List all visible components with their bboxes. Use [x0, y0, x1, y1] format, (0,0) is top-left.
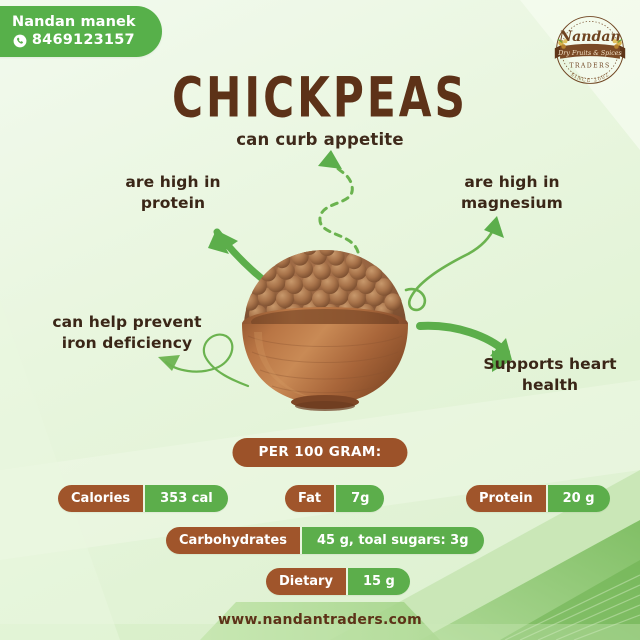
nutrition-key-calories: Calories — [58, 485, 145, 512]
callout-protein-line2: protein — [141, 194, 205, 212]
nutrition-key-protein: Protein — [466, 485, 548, 512]
logo-tagline-text: Dry Fruits & Spices — [557, 49, 622, 57]
nutrition-header-badge: PER 100 GRAM: — [232, 438, 407, 467]
callout-heart: Supports heart health — [474, 354, 626, 396]
callout-magnesium-line1: are high in — [464, 173, 559, 191]
callout-iron-line1: can help prevent — [52, 313, 201, 331]
nutrition-row-carbohydrates: Carbohydrates 45 g, toal sugars: 3g — [166, 527, 484, 554]
contact-badge[interactable]: Nandan manek 8469123157 — [0, 6, 162, 57]
page-title: CHICKPEAS — [0, 66, 640, 131]
contact-phone-number: 8469123157 — [32, 32, 135, 48]
callout-iron-line2: iron deficiency — [62, 334, 193, 352]
chickpeas-bowl-image — [218, 228, 432, 414]
nutrition-row-fat: Fat 7g — [285, 485, 384, 512]
poster-canvas: Nandan manek 8469123157 Nandan — [0, 0, 640, 640]
callout-iron: can help prevent iron deficiency — [42, 312, 212, 354]
nutrition-key-carbohydrates: Carbohydrates — [166, 527, 302, 554]
contact-name: Nandan manek — [12, 13, 136, 31]
nutrition-value-calories: 353 cal — [145, 485, 228, 512]
nutrition-key-fat: Fat — [285, 485, 336, 512]
nutrition-row-calories: Calories 353 cal — [58, 485, 228, 512]
footer-website-url[interactable]: www.nandantraders.com — [0, 612, 640, 628]
callout-protein: are high in protein — [108, 172, 238, 214]
contact-phone-row: 8469123157 — [12, 32, 136, 48]
logo-brand-text: Nandan — [558, 29, 620, 45]
nutrition-row-dietary: Dietary 15 g — [266, 568, 410, 595]
phone-icon — [13, 33, 27, 47]
nutrition-value-fat: 7g — [336, 485, 384, 512]
nutrition-row-protein: Protein 20 g — [466, 485, 610, 512]
callout-protein-line1: are high in — [125, 173, 220, 191]
nutrition-value-dietary: 15 g — [348, 568, 410, 595]
callout-heart-line1: Supports heart — [483, 355, 616, 373]
page-subtitle: can curb appetite — [0, 130, 640, 149]
nutrition-value-protein: 20 g — [548, 485, 610, 512]
callout-magnesium-line2: magnesium — [461, 194, 563, 212]
callout-heart-line2: health — [522, 376, 578, 394]
callout-magnesium: are high in magnesium — [442, 172, 582, 214]
nutrition-key-dietary: Dietary — [266, 568, 348, 595]
nutrition-value-carbohydrates: 45 g, toal sugars: 3g — [302, 527, 484, 554]
